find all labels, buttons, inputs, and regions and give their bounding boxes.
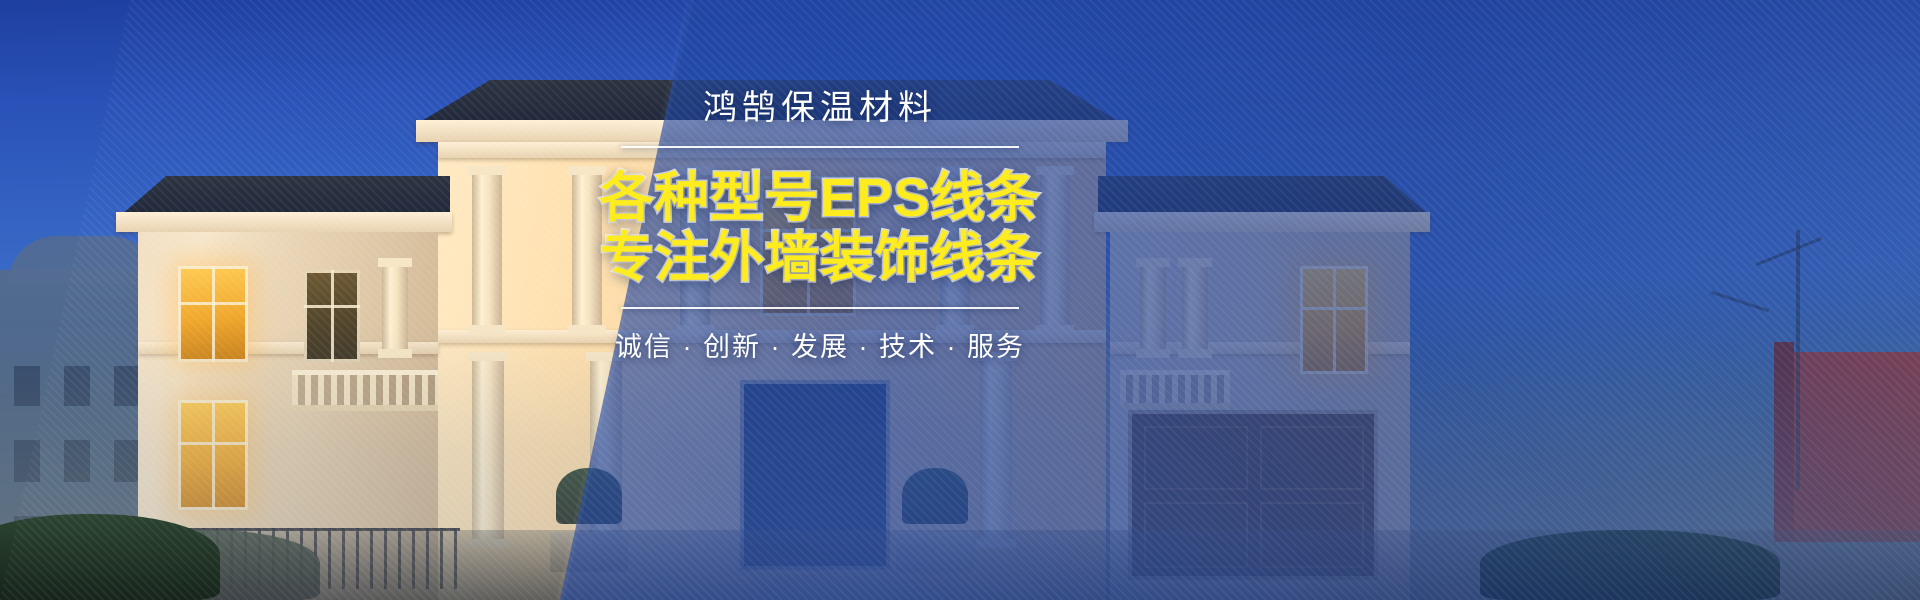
headline-line-1: 各种型号EPS线条 [560,168,1080,228]
banner-copy-block: 鸿鹄保温材料 各种型号EPS线条 专注外墙装饰线条 诚信 · 创新 · 发展 ·… [560,88,1080,364]
headline: 各种型号EPS线条 专注外墙装饰线条 [560,168,1080,289]
divider-rule-top [621,146,1019,148]
headline-line-2: 专注外墙装饰线条 [560,228,1080,288]
brand-name: 鸿鹄保温材料 [560,88,1080,129]
tagline: 诚信 · 创新 · 发展 · 技术 · 服务 [560,325,1080,364]
divider-rule-bottom [621,307,1019,309]
promo-banner: 鸿鹄保温材料 各种型号EPS线条 专注外墙装饰线条 诚信 · 创新 · 发展 ·… [0,0,1920,600]
